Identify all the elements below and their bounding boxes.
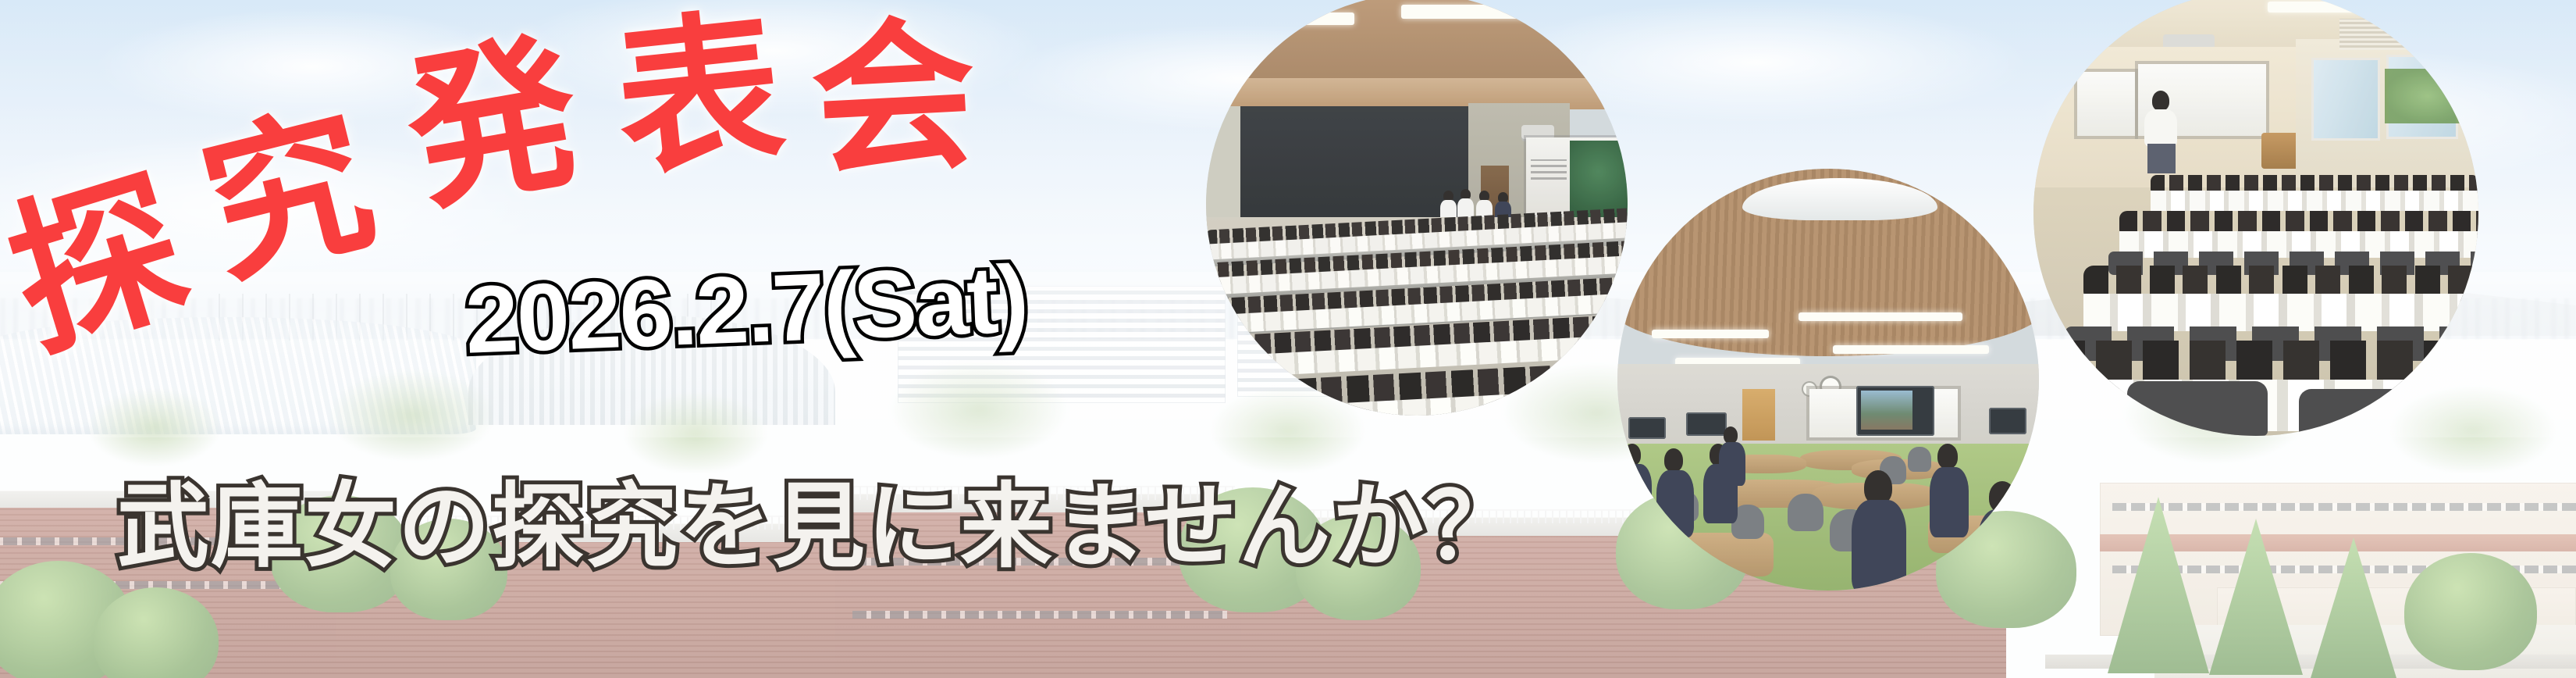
- classroom-door: [1742, 389, 1775, 441]
- ceiling-light: [1833, 345, 1989, 354]
- whiteboard-left: [2077, 72, 2135, 136]
- student-head: [1664, 448, 1683, 472]
- foreground-chair: [2299, 389, 2447, 436]
- teacher-body: [2144, 109, 2177, 147]
- task-chair: [1788, 494, 1823, 531]
- side-monitor: [1686, 412, 1727, 436]
- foreground-chair: [2127, 381, 2268, 436]
- side-monitor: [1628, 417, 1666, 439]
- photo-lecture-hall: [1206, 0, 1628, 416]
- screen-text: [1531, 159, 1567, 180]
- tree: [390, 519, 507, 620]
- student-row-bodies: [2151, 191, 2478, 211]
- blinds: [2339, 19, 2478, 50]
- teacher-head: [2152, 91, 2169, 111]
- student-body: [1978, 509, 2030, 591]
- roof-railing: [852, 486, 1235, 500]
- window-row: [852, 611, 1227, 619]
- building-roof: [0, 491, 342, 508]
- side-monitor: [1989, 408, 2026, 434]
- tree: [1296, 514, 1421, 620]
- ceiling-light: [1652, 330, 1769, 338]
- student-body: [1656, 470, 1694, 537]
- window: [2311, 58, 2380, 141]
- teacher-body: [1719, 442, 1745, 486]
- student-head: [1937, 444, 1958, 469]
- ceiling-light: [1799, 312, 1962, 321]
- window-trees: [2385, 69, 2471, 123]
- teacher-skirt: [2147, 144, 2176, 173]
- brick-block: [835, 506, 1241, 678]
- tree: [2404, 553, 2537, 670]
- teacher-head: [1724, 426, 1738, 444]
- display-content: [1861, 391, 1912, 430]
- ceiling-light: [1237, 12, 1354, 25]
- student-body: [1852, 500, 1906, 591]
- task-chair: [1908, 447, 1931, 472]
- student-body: [1930, 467, 1969, 537]
- group-table: [1617, 533, 1774, 576]
- window-row: [2112, 503, 2576, 511]
- tree: [270, 495, 411, 612]
- window-row: [852, 558, 1227, 566]
- brick-buildings: [0, 420, 2576, 678]
- student-body: [1617, 464, 1652, 526]
- photo-active-learning-room: [1617, 169, 2039, 591]
- student-row-bodies: [2083, 294, 2478, 331]
- ceiling-light: [1401, 5, 1550, 19]
- student-head: [1989, 481, 2016, 512]
- student-head: [1624, 444, 1641, 466]
- ceiling-light: [2268, 2, 2400, 12]
- photo-classroom-teacher: [2033, 0, 2478, 436]
- event-banner: 探 究 発 表 会 2026.2.7(Sat) 武庫女の探究を見に来ませんか？: [0, 0, 2576, 678]
